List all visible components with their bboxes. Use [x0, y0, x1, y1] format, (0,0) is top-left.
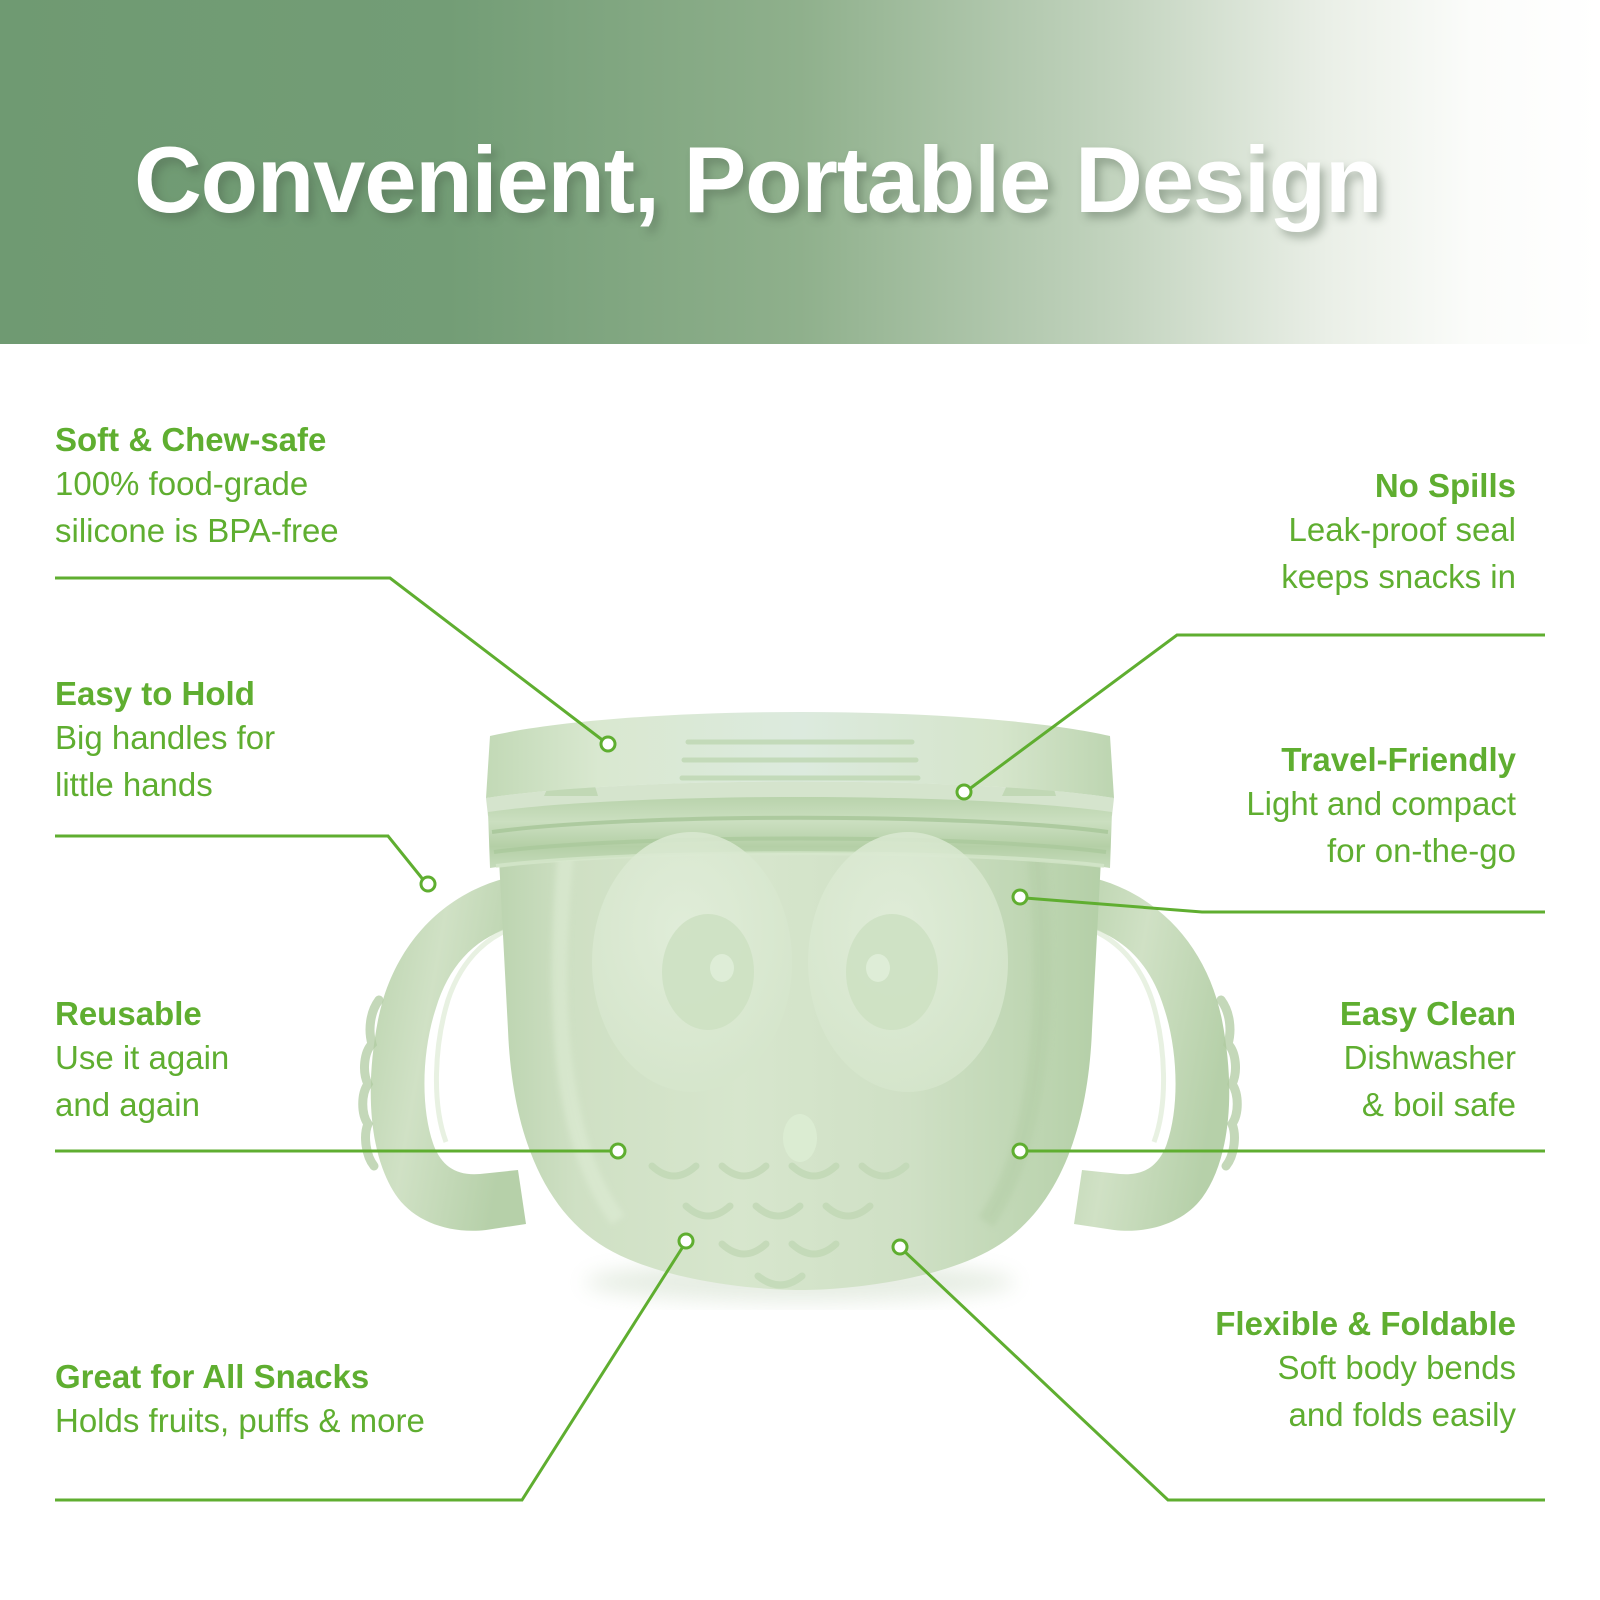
- callout-flexible-foldable: Flexible & Foldable Soft body bends and …: [1215, 1304, 1516, 1438]
- callout-soft-chew-safe: Soft & Chew-safe 100% food-grade silicon…: [55, 420, 339, 554]
- callout-no-spills: No Spills Leak-proof seal keeps snacks i…: [1281, 466, 1516, 600]
- callout-line: and folds easily: [1215, 1391, 1516, 1438]
- callout-title: Great for All Snacks: [55, 1357, 425, 1397]
- callout-line: for on-the-go: [1246, 827, 1516, 874]
- callout-title: No Spills: [1281, 466, 1516, 506]
- callout-line: little hands: [55, 761, 275, 808]
- callout-line: Use it again: [55, 1034, 229, 1081]
- callout-line: Soft body bends: [1215, 1344, 1516, 1391]
- callout-title: Easy to Hold: [55, 674, 275, 714]
- callout-great-for-all-snacks: Great for All Snacks Holds fruits, puffs…: [55, 1357, 425, 1444]
- callout-title: Travel-Friendly: [1246, 740, 1516, 780]
- callout-line: and again: [55, 1081, 229, 1128]
- callout-line: silicone is BPA-free: [55, 507, 339, 554]
- callout-line: Dishwasher: [1340, 1034, 1516, 1081]
- callout-line: Leak-proof seal: [1281, 506, 1516, 553]
- callout-line: Big handles for: [55, 714, 275, 761]
- callout-reusable: Reusable Use it again and again: [55, 994, 229, 1128]
- callout-line: & boil safe: [1340, 1081, 1516, 1128]
- callout-line: 100% food-grade: [55, 460, 339, 507]
- callout-line: Light and compact: [1246, 780, 1516, 827]
- leader-easy-to-hold: [55, 836, 435, 891]
- callout-title: Reusable: [55, 994, 229, 1034]
- callout-title: Flexible & Foldable: [1215, 1304, 1516, 1344]
- callout-title: Easy Clean: [1340, 994, 1516, 1034]
- callout-line: Holds fruits, puffs & more: [55, 1397, 425, 1444]
- callout-easy-to-hold: Easy to Hold Big handles for little hand…: [55, 674, 275, 808]
- callout-travel-friendly: Travel-Friendly Light and compact for on…: [1246, 740, 1516, 874]
- callout-line: keeps snacks in: [1281, 553, 1516, 600]
- leader-travel-friendly: [1013, 890, 1545, 912]
- infographic-canvas: Convenient, Portable Design: [0, 0, 1600, 1600]
- leader-easy-clean: [1013, 1144, 1545, 1158]
- callout-easy-clean: Easy Clean Dishwasher & boil safe: [1340, 994, 1516, 1128]
- callout-title: Soft & Chew-safe: [55, 420, 339, 460]
- leader-reusable: [55, 1144, 625, 1158]
